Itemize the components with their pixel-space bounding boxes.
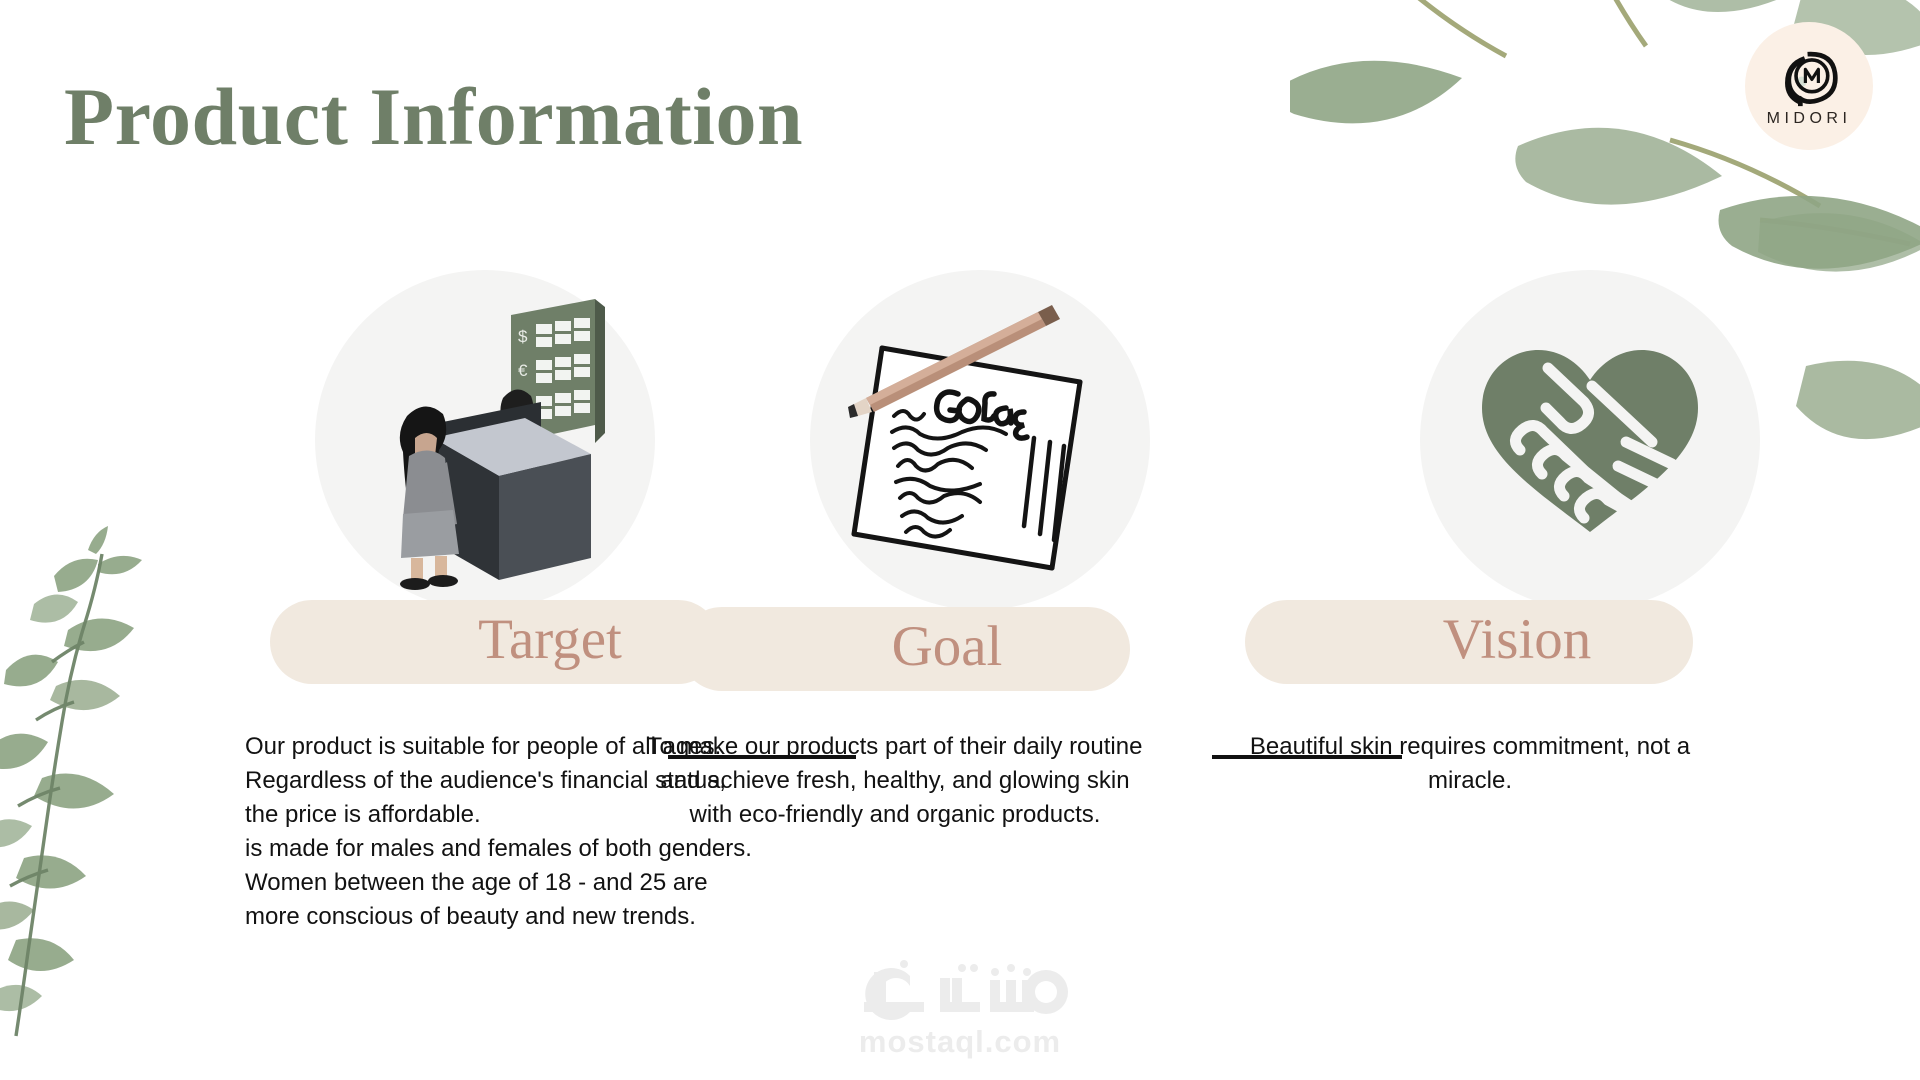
brand-logo-badge: MIDORI	[1745, 22, 1873, 150]
svg-text:$: $	[518, 327, 528, 346]
mostaql-domain-text: mostaql.com	[859, 1024, 1061, 1060]
goal-illustration-circle	[810, 270, 1150, 610]
logo-wordmark: MIDORI	[1767, 110, 1852, 128]
handshake-heart-icon	[1420, 270, 1760, 610]
connector-line-target-goal	[668, 755, 856, 759]
store-counter-illustration-icon: $ € £	[315, 270, 655, 610]
mostaql-arabic-logo-icon	[840, 958, 1080, 1022]
target-label-pill[interactable]: Target	[270, 600, 720, 684]
info-columns: $ € £	[0, 270, 1920, 910]
target-label: Target	[478, 611, 622, 674]
vision-body-text: Beautiful skin requires commitment, not …	[1210, 730, 1730, 798]
slide-root: MIDORI Product Information $ €	[0, 0, 1920, 1080]
vision-illustration-circle	[1420, 270, 1760, 610]
svg-text:€: €	[518, 361, 528, 380]
target-illustration-circle: $ € £	[315, 270, 655, 610]
goal-body-text: To make our products part of their daily…	[645, 730, 1145, 832]
connector-line-goal-vision	[1212, 755, 1402, 759]
page-title: Product Information	[64, 70, 803, 164]
vision-label: Vision	[1443, 611, 1592, 674]
mostaql-watermark: mostaql.com	[810, 958, 1110, 1060]
midori-monogram-icon	[1772, 47, 1846, 109]
vision-label-pill[interactable]: Vision	[1245, 600, 1693, 684]
goal-label-pill[interactable]: Goal	[680, 607, 1130, 691]
goals-notepad-illustration-icon	[810, 270, 1150, 610]
goal-label: Goal	[892, 618, 1003, 681]
